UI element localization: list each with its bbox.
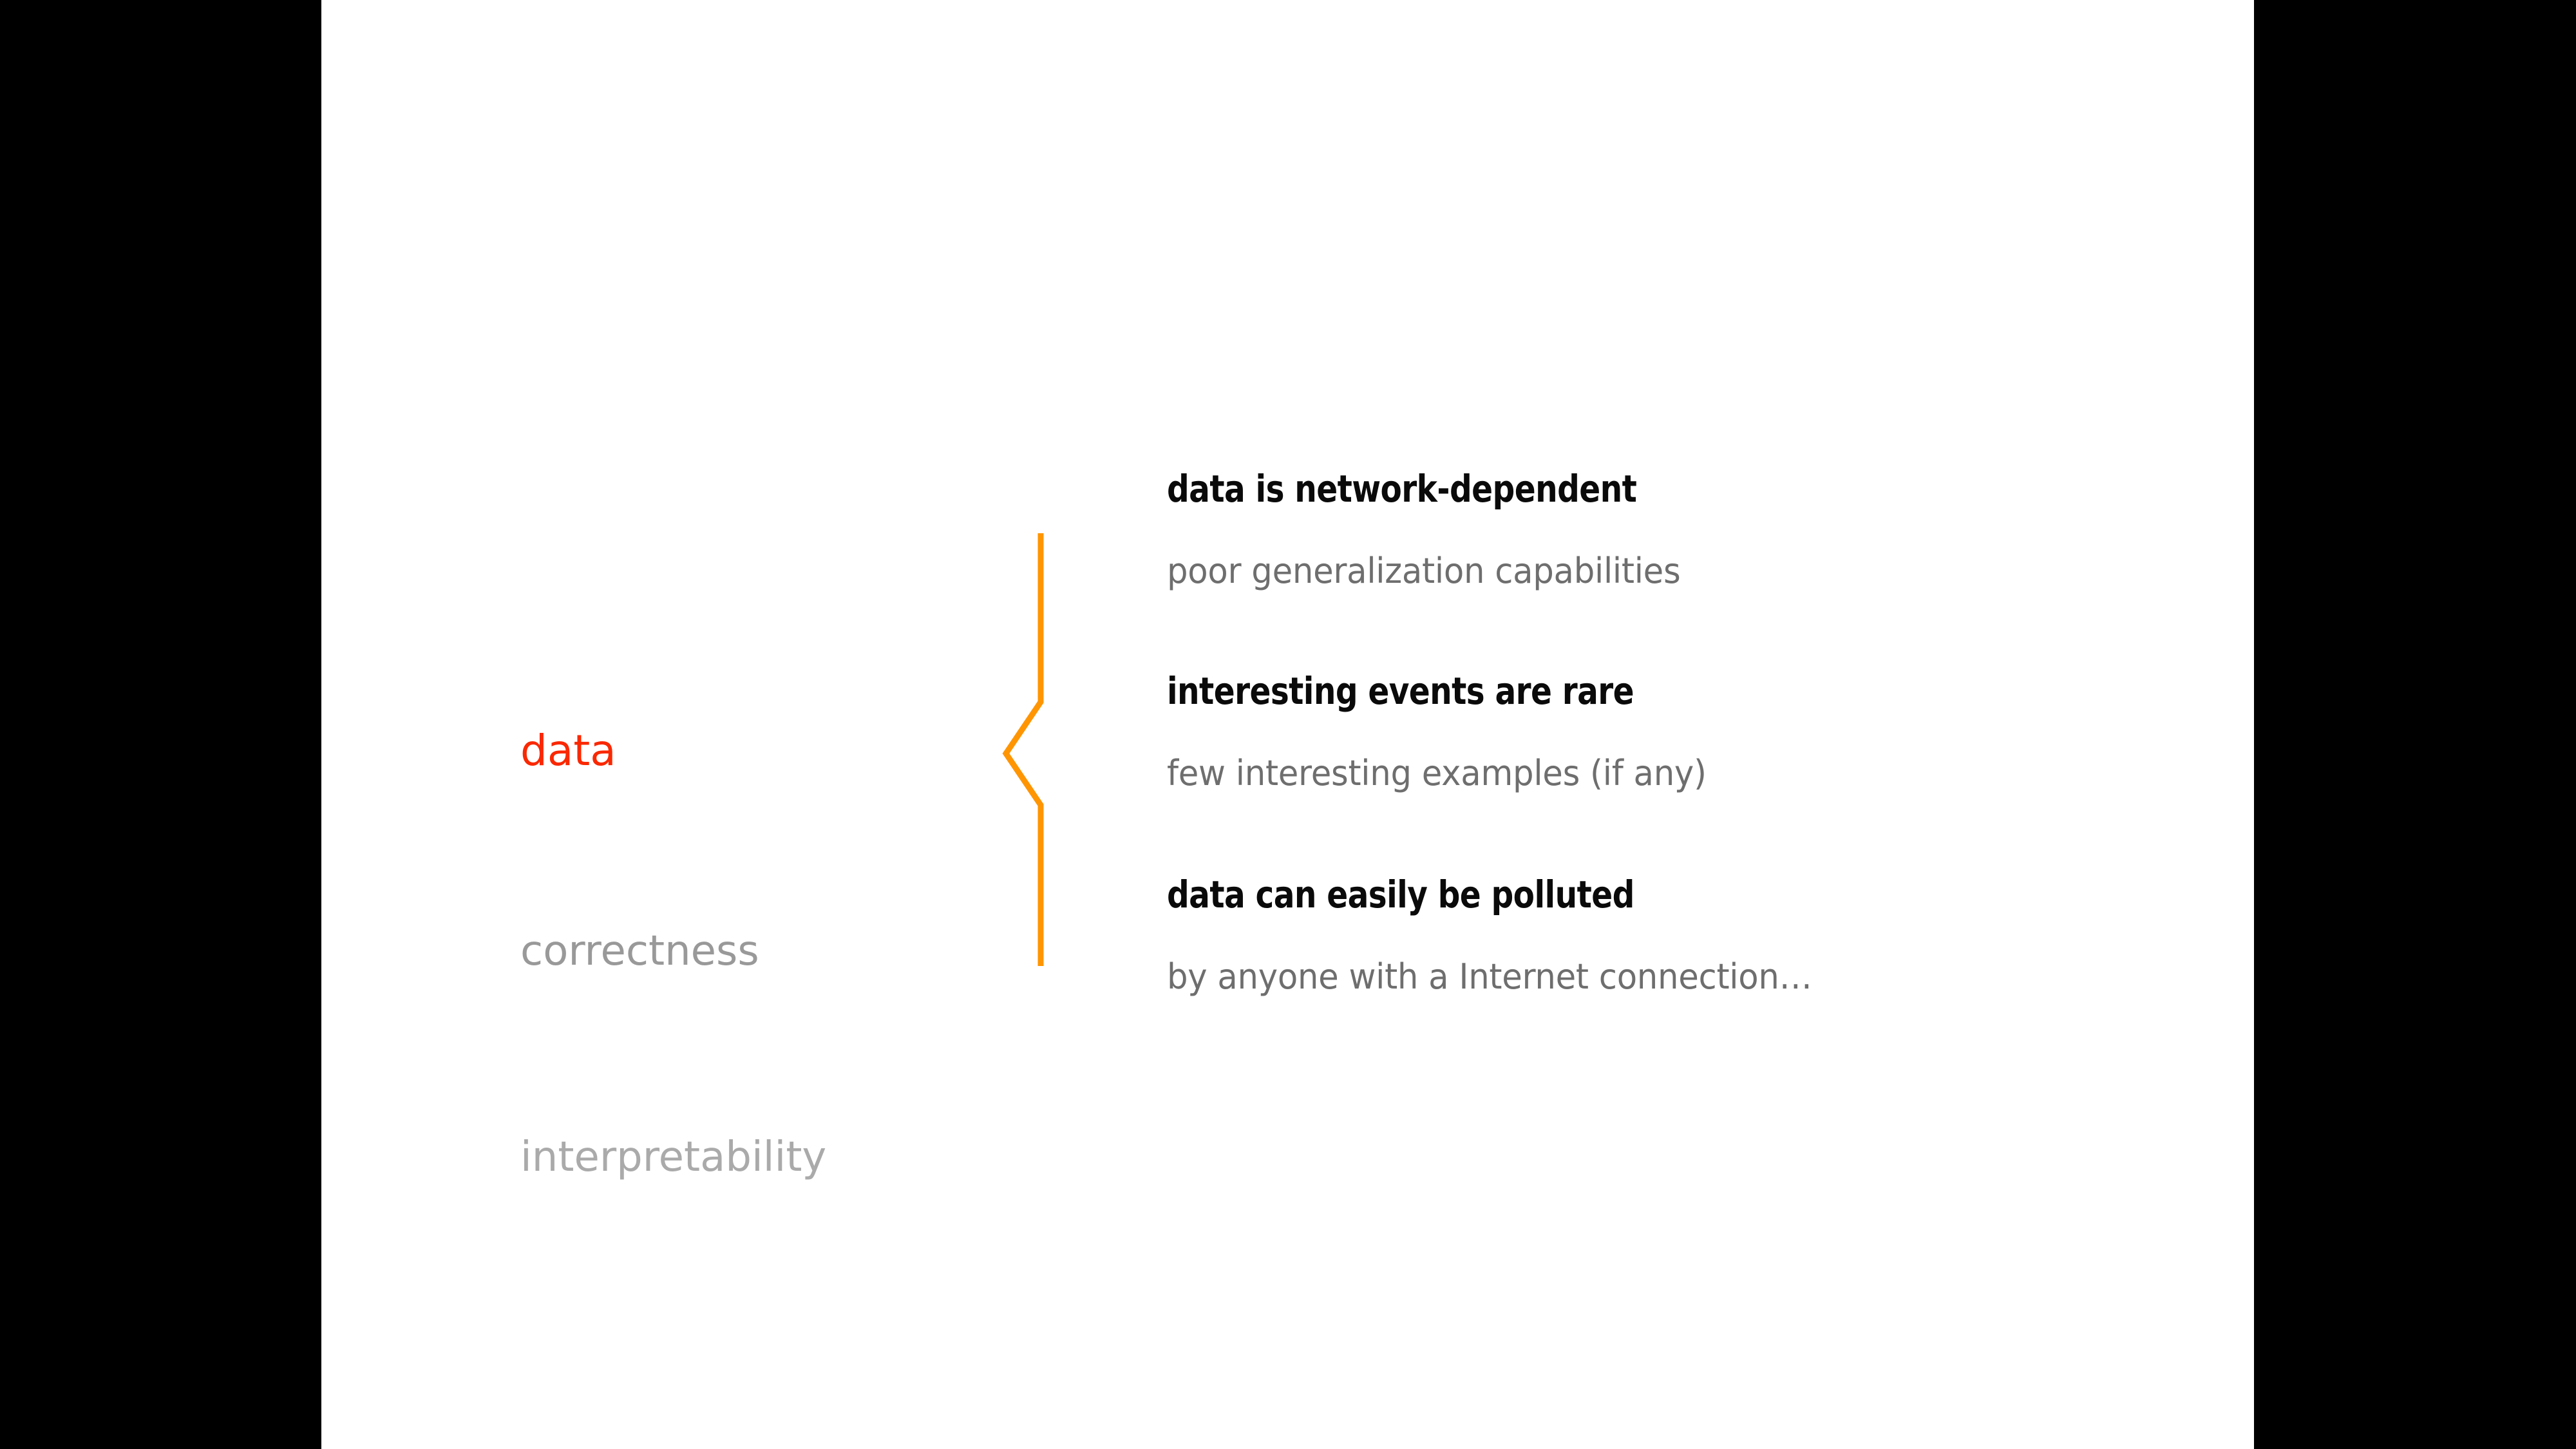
section-nav-column: data correctness interpretability: [520, 0, 1100, 1449]
detail-group: interesting events are rare few interest…: [1167, 672, 2197, 791]
letterbox-right-bar: [2254, 0, 2576, 1449]
slide-root: data correctness interpretability data i…: [0, 0, 2576, 1449]
detail-group: data is network-dependent poor generaliz…: [1167, 470, 2197, 589]
nav-item-correctness[interactable]: correctness: [520, 931, 759, 972]
detail-subtext: poor generalization capabilities: [1167, 554, 2146, 589]
detail-heading: data can easily be polluted: [1167, 876, 2125, 913]
detail-group: data can easily be polluted by anyone wi…: [1167, 876, 2197, 994]
nav-item-data[interactable]: data: [520, 730, 616, 772]
detail-column: data is network-dependent poor generaliz…: [1167, 0, 2197, 1449]
detail-heading: data is network-dependent: [1167, 470, 2125, 507]
detail-subtext: by anyone with a Internet connection…: [1167, 960, 2146, 994]
detail-subtext: few interesting examples (if any): [1167, 756, 2146, 791]
nav-item-interpretability[interactable]: interpretability: [520, 1137, 826, 1178]
letterbox-left-bar: [0, 0, 321, 1449]
slide-canvas: data correctness interpretability data i…: [321, 0, 2254, 1449]
detail-heading: interesting events are rare: [1167, 672, 2125, 710]
